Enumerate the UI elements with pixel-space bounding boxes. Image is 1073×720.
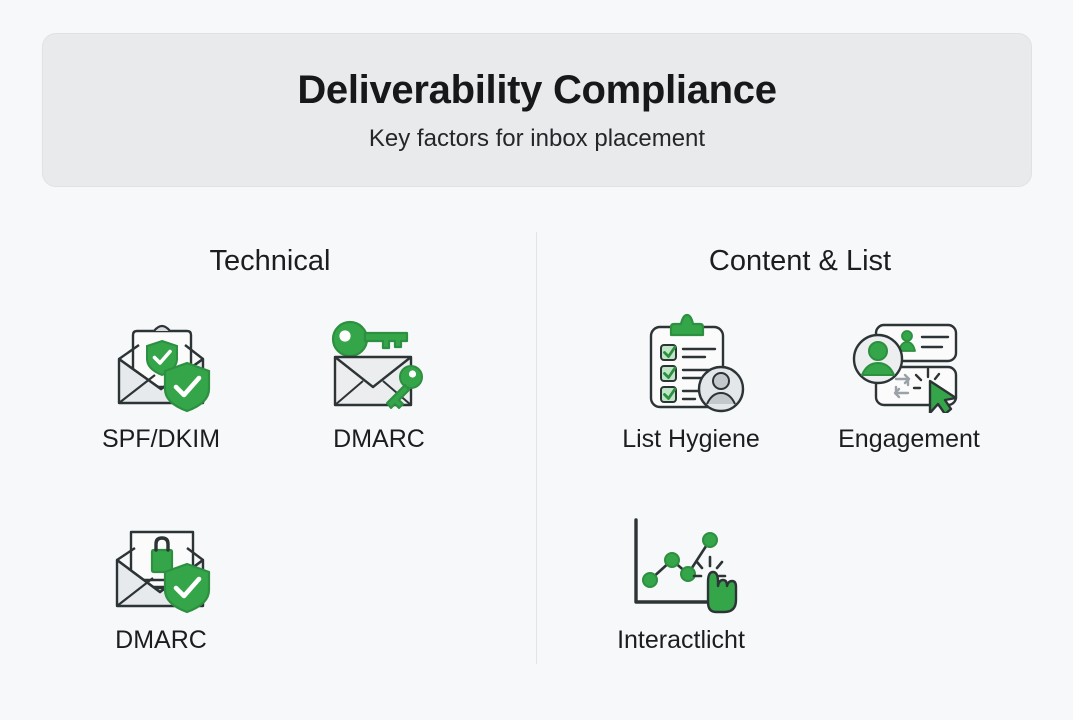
columns-area: Technical	[0, 232, 1073, 672]
cards-person-cursor-icon	[849, 306, 969, 416]
header-card: Deliverability Compliance Key factors fo…	[42, 33, 1032, 187]
item-engagement[interactable]: Engagement	[800, 306, 1018, 454]
column-divider	[536, 232, 537, 664]
item-label-interactlicht: Interactlicht	[617, 627, 745, 655]
item-label-list-hygiene: List Hygiene	[622, 426, 760, 454]
column-technical: Technical	[10, 232, 530, 681]
line-chart-hand-click-icon	[621, 507, 741, 617]
column-title-content-list: Content & List	[540, 232, 1060, 278]
content-items-row-2: Interactlicht	[540, 507, 1060, 681]
item-label-spf-dkim: SPF/DKIM	[102, 426, 220, 454]
page-subtitle: Key factors for inbox placement	[369, 126, 705, 152]
item-dmarc-keys[interactable]: DMARC	[270, 306, 488, 454]
technical-items-row-2: DMARC	[10, 507, 530, 681]
content-items-row-1: List Hygiene	[540, 306, 1060, 480]
technical-items-row-1: SPF/DKIM	[10, 306, 530, 480]
page-title: Deliverability Compliance	[297, 68, 776, 112]
item-label-engagement: Engagement	[838, 426, 980, 454]
item-label-dmarc-keys: DMARC	[333, 426, 425, 454]
envelope-lock-shield-icon	[101, 507, 221, 617]
envelope-open-shield-check-icon	[101, 306, 221, 416]
infographic-page: Deliverability Compliance Key factors fo…	[0, 0, 1073, 720]
item-dmarc-lock[interactable]: DMARC	[52, 507, 270, 655]
column-content-list: Content & List	[540, 232, 1060, 681]
clipboard-checklist-person-icon	[631, 306, 751, 416]
item-interactlicht[interactable]: Interactlicht	[572, 507, 790, 655]
envelope-keys-icon	[319, 306, 439, 416]
item-list-hygiene[interactable]: List Hygiene	[582, 306, 800, 454]
item-spf-dkim[interactable]: SPF/DKIM	[52, 306, 270, 454]
column-title-technical: Technical	[10, 232, 530, 278]
item-label-dmarc-lock: DMARC	[115, 627, 207, 655]
